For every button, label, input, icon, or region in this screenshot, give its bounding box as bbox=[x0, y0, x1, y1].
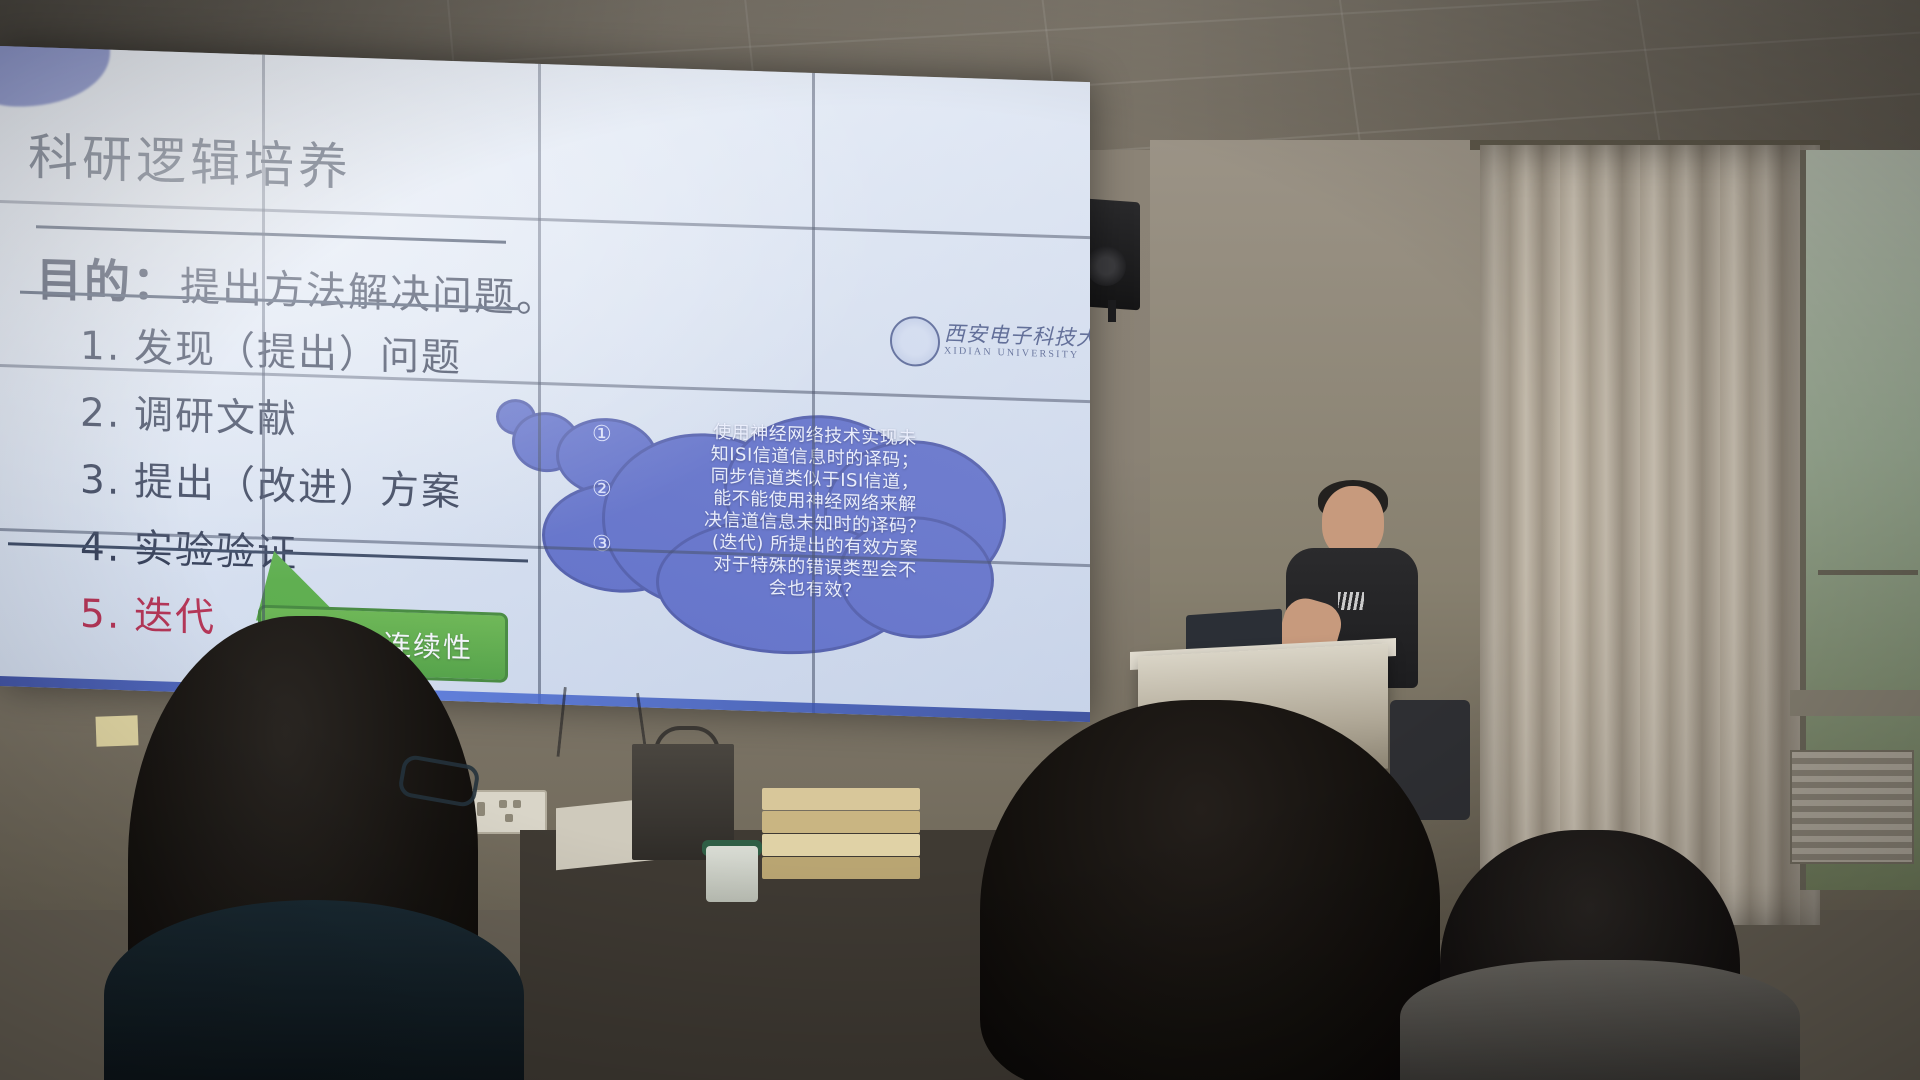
seminar-room-photo: 科研逻辑培养 目的：提出方法解决问题。 1.发现（提出）问题 2.调研文献 3.… bbox=[0, 0, 1920, 1080]
audience-front-right-shoulders bbox=[1400, 960, 1800, 1080]
list-item-number: 1. bbox=[80, 324, 134, 371]
slide-title: 科研逻辑培养 bbox=[28, 117, 352, 200]
video-wall-bezel bbox=[0, 200, 1090, 239]
speaker-cone-icon bbox=[1086, 246, 1126, 286]
slide-surface: 科研逻辑培养 目的：提出方法解决问题。 1.发现（提出）问题 2.调研文献 3.… bbox=[0, 46, 1090, 722]
list-item-number: 5. bbox=[80, 592, 134, 639]
slide-purpose: 目的：提出方法解决问题。 bbox=[36, 243, 558, 326]
video-wall-display[interactable]: 科研逻辑培养 目的：提出方法解决问题。 1.发现（提出）问题 2.调研文献 3.… bbox=[0, 46, 1090, 722]
shirt-logo-icon bbox=[1338, 592, 1364, 610]
university-seal-icon bbox=[890, 316, 940, 368]
window-curtain bbox=[1480, 145, 1820, 925]
cloud-marker: ① bbox=[592, 422, 612, 448]
audience-front-left-shoulders bbox=[104, 900, 524, 1080]
list-item-label: 提出（改进）方案 bbox=[134, 459, 462, 515]
purpose-text: 提出方法解决问题。 bbox=[180, 264, 558, 323]
wall-notice bbox=[95, 715, 138, 746]
list-item-label: 迭代 bbox=[134, 593, 216, 641]
cloud-text-block: 使用神经网络技术实现未 知ISI信道信息时的译码； 同步信道类似于ISI信道， … bbox=[650, 420, 980, 607]
window-sill bbox=[1790, 690, 1920, 716]
book-stack bbox=[762, 788, 920, 880]
thermos-cup bbox=[706, 846, 758, 902]
cloud-marker: ② bbox=[592, 477, 612, 503]
title-divider-top bbox=[36, 225, 506, 244]
list-item: 2.调研文献 bbox=[80, 382, 462, 451]
purpose-label: 目的： bbox=[36, 252, 180, 311]
list-item-label: 调研文献 bbox=[134, 392, 298, 442]
ac-vent bbox=[1790, 750, 1914, 864]
list-item-number: 3. bbox=[80, 458, 134, 505]
cloud-marker: ③ bbox=[592, 532, 612, 558]
speaker-mount-arm bbox=[1108, 300, 1116, 322]
list-item: 3.提出（改进）方案 bbox=[80, 449, 462, 518]
audience-front-center bbox=[980, 700, 1440, 1080]
cloud-markers: ① ② ③ bbox=[592, 422, 612, 558]
xidian-university-logo: 西安电子科技大学 XIDIAN UNIVERSITY bbox=[890, 314, 1082, 382]
slide-corner-decor bbox=[0, 46, 110, 110]
list-item-number: 2. bbox=[80, 391, 134, 438]
power-socket[interactable] bbox=[465, 790, 547, 834]
thought-cloud: ① ② ③ 使用神经网络技术实现未 知ISI信道信息时的译码； 同步信道类似于I… bbox=[538, 394, 1008, 660]
